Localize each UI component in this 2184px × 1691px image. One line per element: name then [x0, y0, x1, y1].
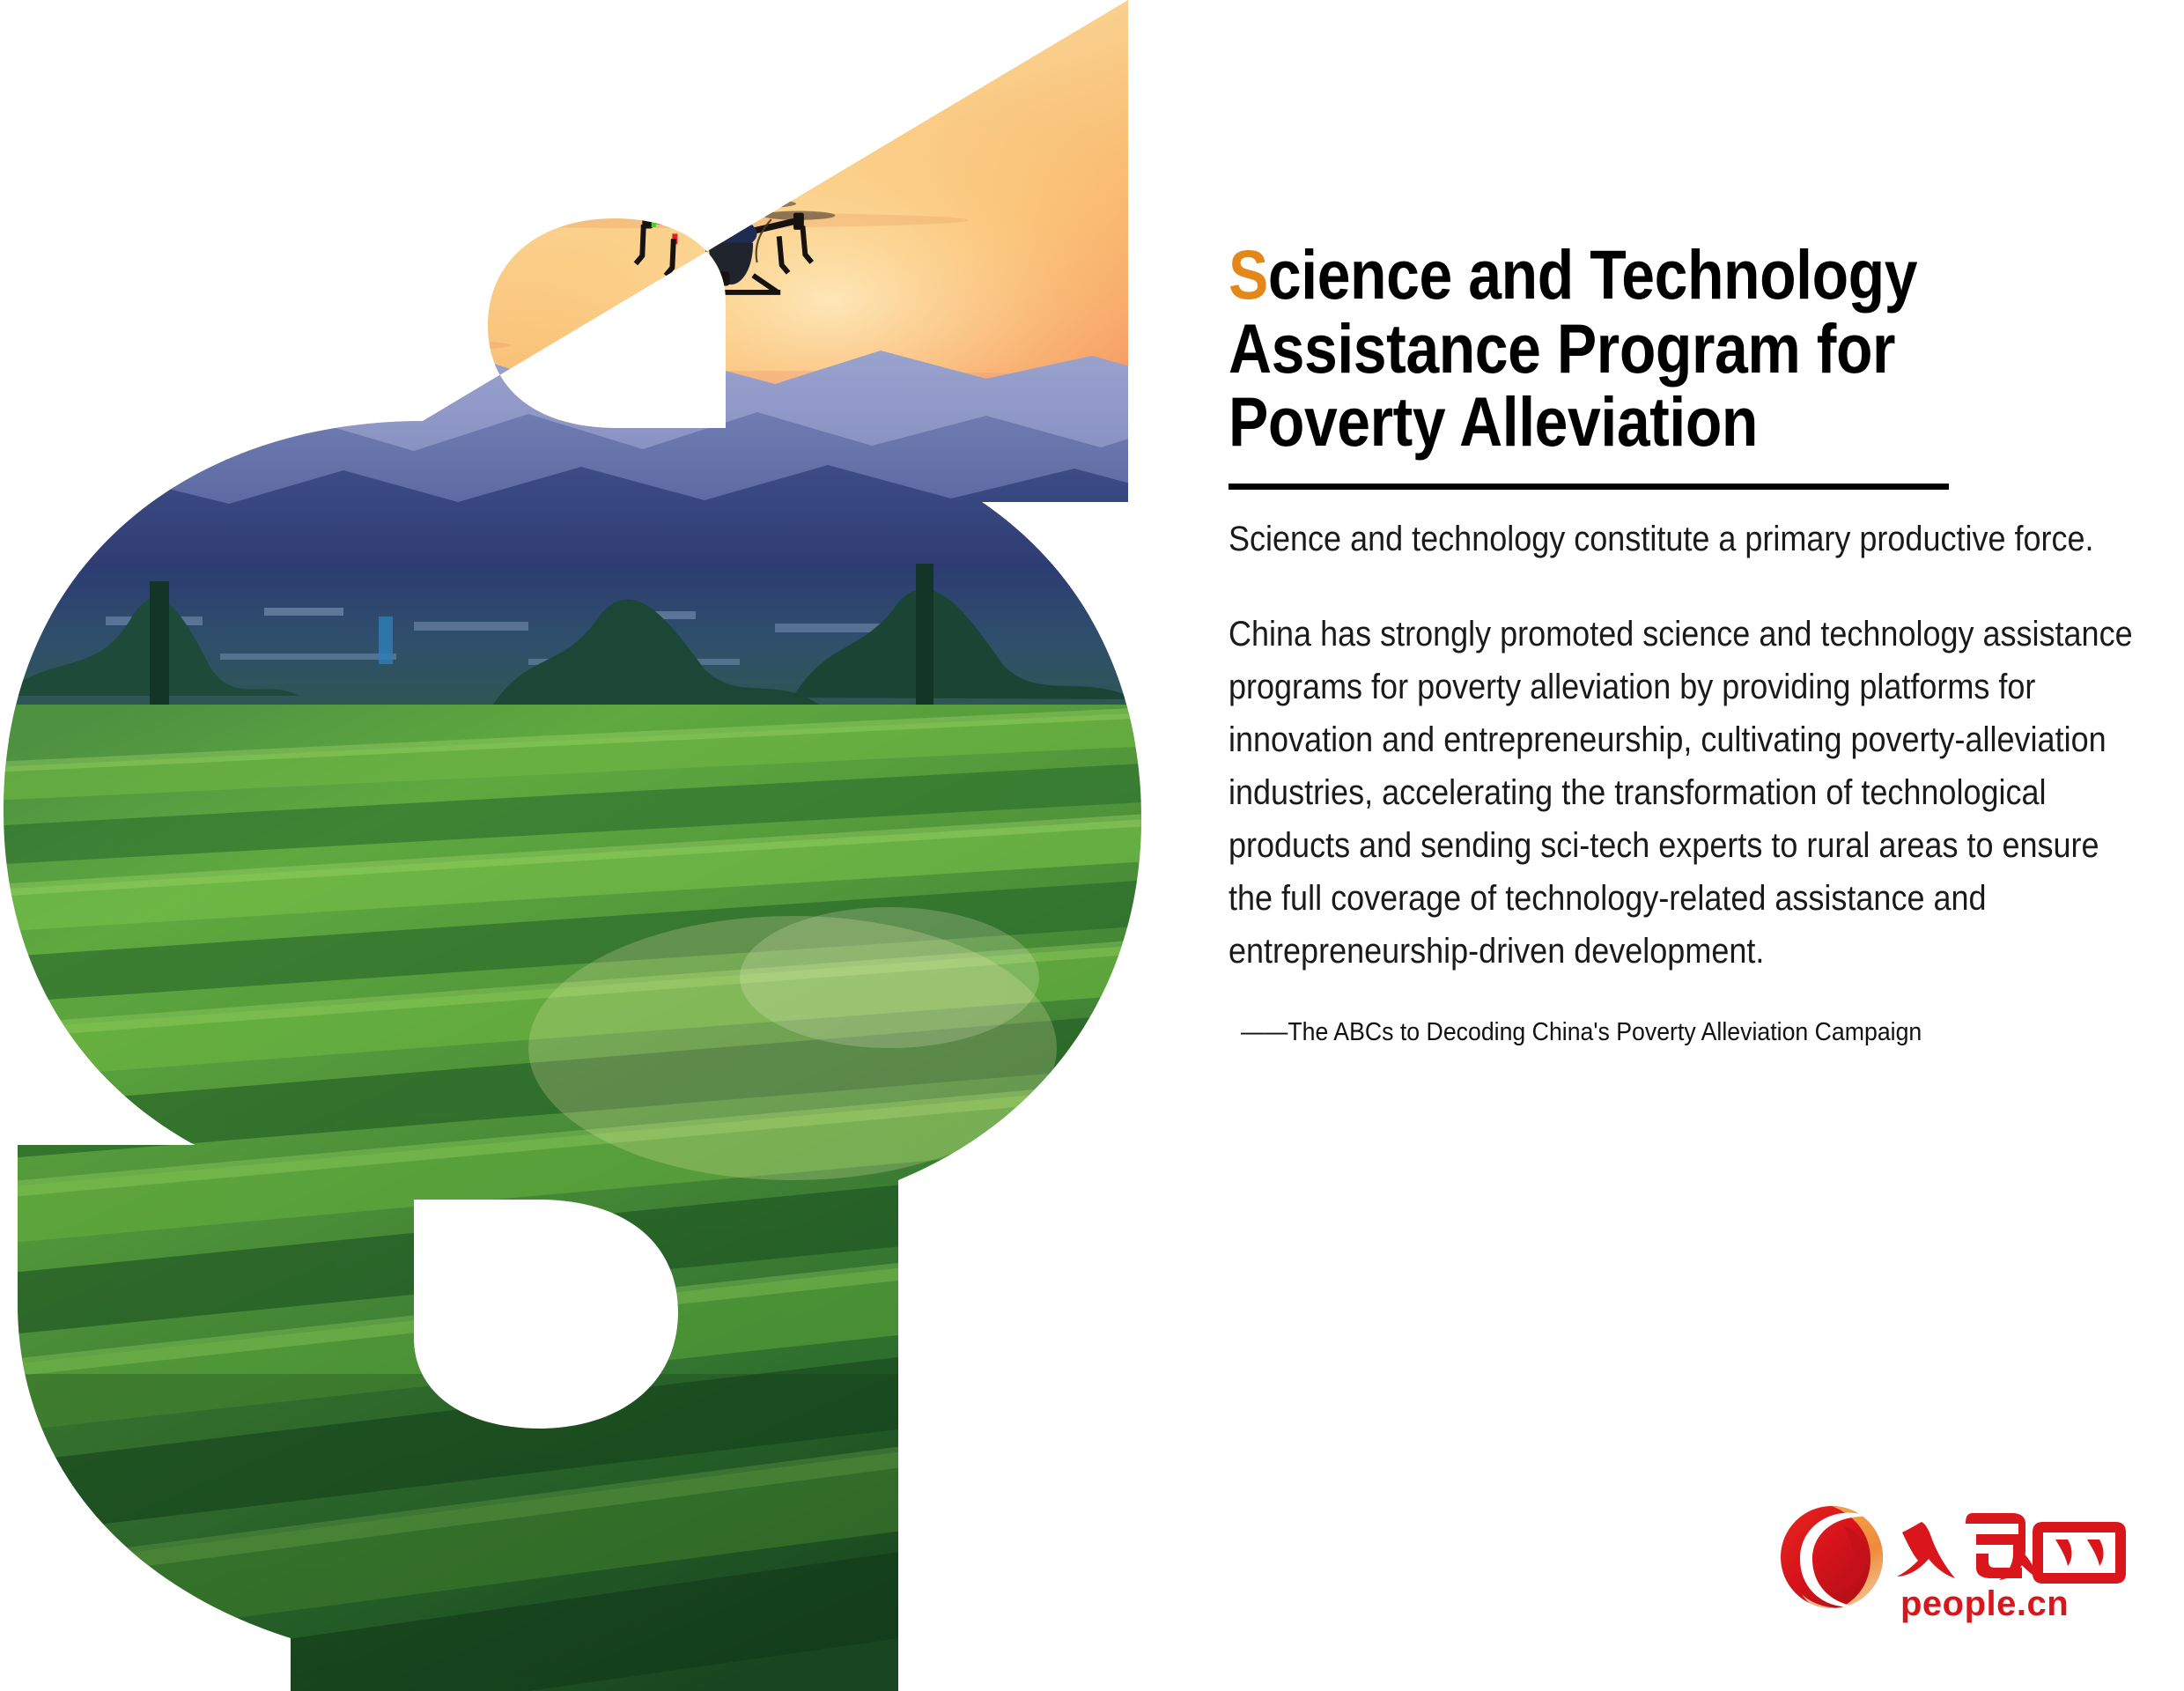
headline-accent-letter: S	[1228, 235, 1268, 314]
headline-line-2: Assistance Program for	[1228, 309, 1895, 388]
drone-battery	[699, 271, 729, 285]
nav-light-red	[197, 184, 204, 198]
drone-canopy	[238, 163, 312, 205]
drone-arms	[167, 149, 366, 184]
logo-domain-text: people.cn	[1900, 1584, 2069, 1623]
drone-legs	[148, 172, 386, 263]
field-foreground-shadow	[0, 1374, 1180, 1691]
source-attribution: ——The ABCs to Decoding China's Poverty A…	[1241, 1016, 2165, 1050]
spray-drone-large	[108, 134, 421, 263]
lead-paragraph: Science and technology constitute a prim…	[1228, 513, 2140, 565]
sun-shaft-core	[740, 907, 1039, 1048]
people-cn-logo[interactable]: people.cn	[1777, 1503, 2129, 1635]
drone-wiring	[213, 161, 331, 223]
nav-light-green	[315, 145, 321, 161]
nav-light-green	[169, 159, 175, 175]
headline-line-1: cience and Technology	[1268, 235, 1917, 314]
drone-motors	[157, 137, 375, 179]
drone-tank	[247, 196, 306, 253]
status-light	[236, 223, 243, 232]
nav-light-green	[227, 144, 233, 159]
main-paragraph: China has strongly promoted science and …	[1228, 608, 2140, 978]
article-content-column: Science and Technology Assistance Progra…	[1228, 238, 2171, 1050]
rotor-blur	[108, 134, 421, 166]
s-letterform-image	[0, 0, 1180, 1691]
title-divider-rule	[1228, 484, 1949, 490]
logo-chinese-wordmark	[1897, 1513, 2126, 1584]
logo-sphere-icon	[1781, 1506, 1886, 1614]
s-letterform-panel	[0, 0, 1180, 1691]
blue-tower	[379, 617, 393, 664]
headline-line-3: Poverty Alleviation	[1228, 382, 1758, 461]
page-title: Science and Technology Assistance Progra…	[1228, 238, 2167, 459]
s-photo-fill	[0, 0, 1180, 1691]
drone-battery	[234, 235, 275, 255]
nav-light-green	[652, 216, 656, 227]
nav-light-green	[760, 205, 764, 217]
